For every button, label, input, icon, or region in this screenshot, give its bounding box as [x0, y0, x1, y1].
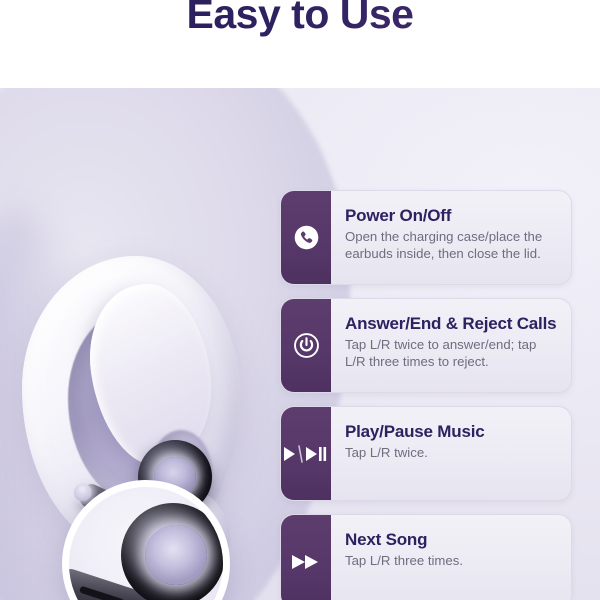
feature-card-title: Play/Pause Music — [345, 421, 559, 442]
inset-earbud-driver — [145, 525, 207, 585]
feature-card-next-song[interactable]: Next Song Tap L/R three times. — [280, 514, 572, 600]
feature-card-description: Tap L/R three times. — [345, 553, 559, 570]
power-button-icon — [281, 299, 331, 392]
header-band: Easy to Use — [0, 0, 600, 88]
feature-card-description: Tap L/R twice to answer/end; tap L/R thr… — [345, 337, 559, 370]
feature-card-text: Next Song Tap L/R three times. — [331, 515, 571, 600]
feature-card-title: Answer/End & Reject Calls — [345, 313, 559, 334]
feature-card-text: Play/Pause Music Tap L/R twice. — [331, 407, 571, 500]
feature-card-title: Power On/Off — [345, 205, 559, 226]
feature-card-play-pause-music[interactable]: Play/Pause Music Tap L/R twice. — [280, 406, 572, 501]
feature-card-title: Next Song — [345, 529, 559, 550]
feature-card-text: Power On/Off Open the charging case/plac… — [331, 191, 571, 284]
infographic-page: Easy to Use — [0, 0, 600, 600]
feature-card-list: Power On/Off Open the charging case/plac… — [280, 190, 572, 600]
play-pause-icon — [281, 407, 331, 500]
page-title: Easy to Use — [0, 0, 600, 40]
feature-card-answer-end-reject-calls[interactable]: Answer/End & Reject Calls Tap L/R twice … — [280, 298, 572, 393]
phone-handset-icon — [281, 191, 331, 284]
feature-card-description: Tap L/R twice. — [345, 445, 559, 462]
feature-card-description: Open the charging case/place the earbuds… — [345, 229, 559, 262]
feature-card-text: Answer/End & Reject Calls Tap L/R twice … — [331, 299, 571, 392]
feature-card-power-on-off[interactable]: Power On/Off Open the charging case/plac… — [280, 190, 572, 285]
inset-earbud-stem-slot — [79, 586, 125, 600]
fast-forward-icon — [281, 515, 331, 600]
